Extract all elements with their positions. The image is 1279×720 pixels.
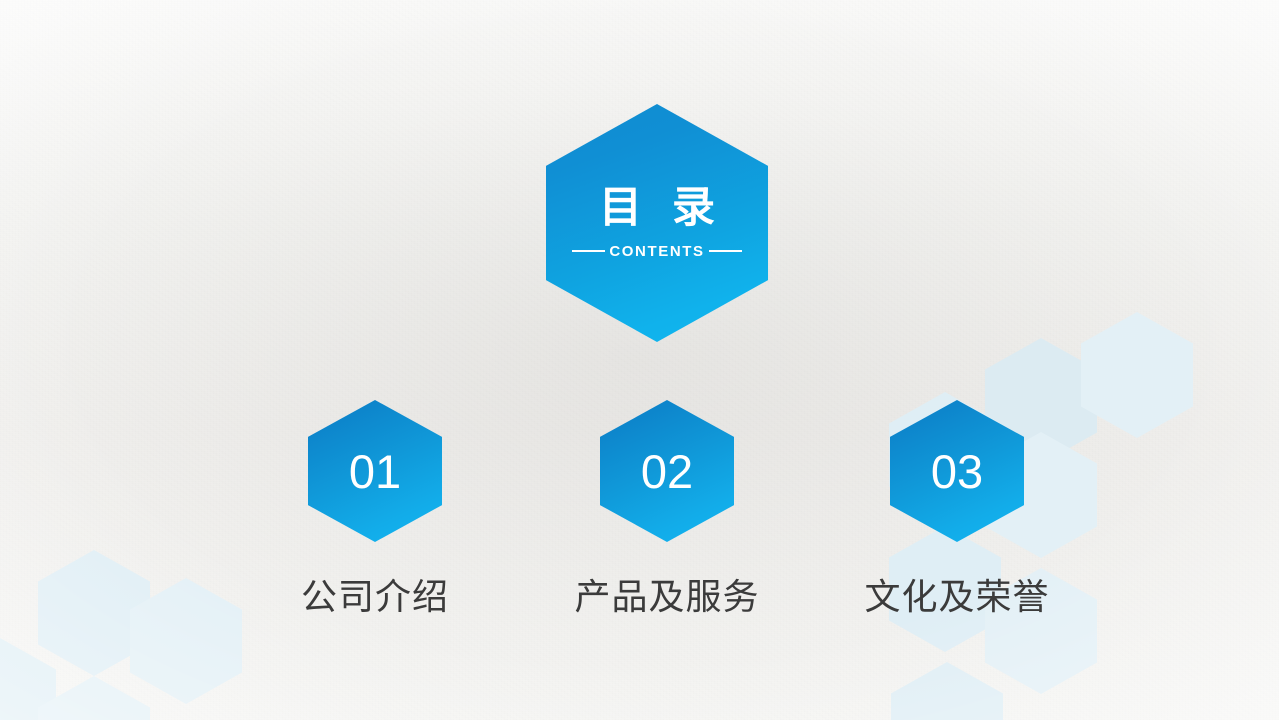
item-number-hexagon[interactable]: 01 — [308, 400, 442, 542]
page-title: 目 录 — [590, 187, 724, 230]
contents-item-01[interactable]: 01 公司介绍 — [230, 400, 520, 620]
contents-items: 01 公司介绍 02 产品及服务 03 文化及荣誉 — [0, 400, 1279, 630]
item-number: 01 — [349, 448, 401, 495]
decorative-hexagon — [891, 662, 1003, 720]
contents-item-03[interactable]: 03 文化及荣誉 — [812, 400, 1102, 620]
rule-left-icon — [572, 250, 605, 252]
contents-item-02[interactable]: 02 产品及服务 — [522, 400, 812, 620]
contents-title-hexagon: 目 录 CONTENTS — [546, 104, 768, 342]
item-label: 公司介绍 — [301, 568, 449, 620]
rule-right-icon — [709, 250, 742, 252]
page-subtitle: CONTENTS — [605, 243, 708, 260]
decorative-hexagon — [0, 638, 56, 720]
item-label: 产品及服务 — [574, 568, 759, 620]
item-number: 03 — [931, 448, 983, 495]
item-number-hexagon[interactable]: 03 — [890, 400, 1024, 542]
item-number-hexagon[interactable]: 02 — [600, 400, 734, 542]
item-number: 02 — [641, 448, 693, 495]
subtitle-row: CONTENTS — [546, 243, 768, 260]
item-label: 文化及荣誉 — [864, 568, 1049, 620]
contents-slide: 目 录 CONTENTS 01 公司介绍 02 产品及服务 03 文化及荣誉 — [0, 0, 1279, 720]
decorative-hexagon — [38, 676, 150, 720]
